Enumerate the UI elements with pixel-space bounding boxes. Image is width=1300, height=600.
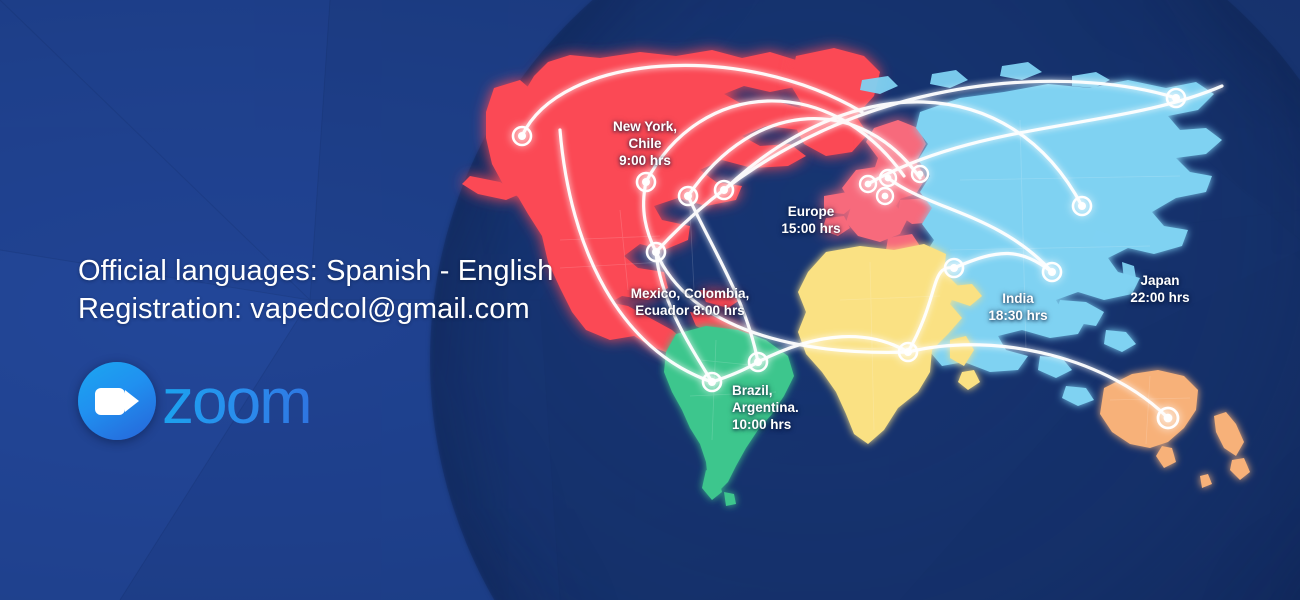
registration-line: Registration: vapedcol@gmail.com xyxy=(78,290,598,328)
continent-oceania xyxy=(1100,370,1250,488)
banner-canvas: New York, Chile 9:00 hrs Mexico, Colombi… xyxy=(0,0,1300,600)
zoom-logo: zoom xyxy=(78,362,311,440)
official-languages-line: Official languages: Spanish - English xyxy=(78,252,598,290)
info-text-block: Official languages: Spanish - English Re… xyxy=(78,252,598,328)
zoom-wordmark: zoom xyxy=(162,369,311,433)
camera-body xyxy=(95,388,125,415)
map-label-mexico: Mexico, Colombia, Ecuador 8:00 hrs xyxy=(625,285,755,319)
map-label-new-york: New York, Chile 9:00 hrs xyxy=(585,118,705,169)
zoom-logo-circle xyxy=(78,362,156,440)
video-camera-icon xyxy=(95,388,139,415)
map-label-india: India 18:30 hrs xyxy=(965,290,1071,324)
map-label-brazil: Brazil, Argentina. 10:00 hrs xyxy=(732,382,842,433)
camera-lens xyxy=(125,390,139,412)
map-label-japan: Japan 22:00 hrs xyxy=(1112,272,1208,306)
map-label-europe: Europe 15:00 hrs xyxy=(762,203,860,237)
